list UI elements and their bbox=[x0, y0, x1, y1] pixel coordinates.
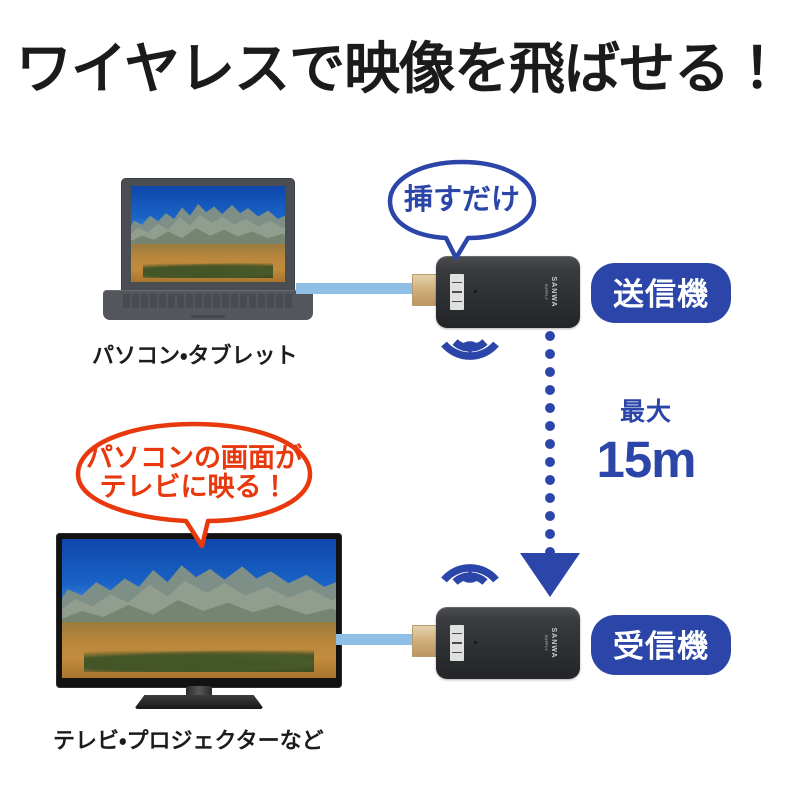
laptop-lid bbox=[121, 178, 295, 292]
wifi-transmit-icon bbox=[440, 338, 500, 386]
laptop-keyboard bbox=[123, 294, 293, 308]
photo-scrub bbox=[143, 263, 272, 278]
page-title: ワイヤレスで映像を飛ばせる！ bbox=[0, 24, 800, 105]
dongle-brand-text: SANWA SUPPLY bbox=[544, 276, 557, 307]
wifi-transmit-glyph bbox=[440, 338, 500, 386]
tv-stand-base bbox=[134, 695, 264, 709]
dongle-body: SANWA SUPPLY bbox=[436, 607, 580, 679]
laptop-base bbox=[103, 290, 313, 320]
television-illustration bbox=[56, 533, 342, 708]
mountain-landscape-photo bbox=[62, 539, 336, 678]
dongle-brand-name: SANWA bbox=[548, 627, 557, 658]
photo-mountain-ridge bbox=[131, 199, 285, 249]
source-device-caption: パソコン・タブレット bbox=[92, 338, 297, 370]
receiver-dongle: SANWA SUPPLY bbox=[412, 607, 580, 679]
status-badge-transmitter: 送信機 bbox=[591, 263, 731, 323]
display-device-caption: テレビ・プロジェクターなど bbox=[53, 723, 324, 755]
dongle-led-icon bbox=[474, 290, 477, 293]
callout-bubble-insert-only: 挿すだけ bbox=[382, 158, 542, 260]
dongle-led-icon bbox=[474, 641, 477, 644]
infographic-canvas: ワイヤレスで映像を飛ばせる！ パソコン・タブレット bbox=[0, 0, 800, 800]
arrowhead-glyph bbox=[519, 552, 581, 598]
mountain-landscape-photo bbox=[131, 186, 285, 282]
callout-bubble-text: パソコンの画面が テレビに映る！ bbox=[70, 420, 318, 548]
wifi-receive-icon bbox=[440, 538, 500, 586]
dongle-brand-name: SANWA bbox=[548, 276, 557, 307]
callout-bubble-screen-mirrors: パソコンの画面が テレビに映る！ bbox=[70, 420, 318, 548]
status-badge-receiver: 受信機 bbox=[591, 615, 731, 675]
transmitter-dongle: SANWA SUPPLY bbox=[412, 256, 580, 328]
hdmi-cable-transmitter bbox=[296, 283, 412, 294]
laptop-screen bbox=[131, 186, 285, 282]
wifi-receive-glyph bbox=[440, 538, 500, 586]
photo-mountain-ridge bbox=[62, 558, 336, 630]
laptop-illustration bbox=[103, 178, 313, 328]
photo-scrub bbox=[84, 650, 314, 672]
max-distance-label: 最大 15m bbox=[578, 392, 714, 489]
callout-line-2: テレビに映る！ bbox=[100, 473, 289, 502]
tv-bezel bbox=[56, 533, 342, 688]
max-distance-value: 15m bbox=[578, 430, 714, 489]
callout-line-1: 挿すだけ bbox=[404, 185, 520, 216]
callout-line-1: パソコンの画面が bbox=[86, 444, 302, 473]
hdmi-cable-receiver bbox=[336, 634, 414, 645]
tv-screen bbox=[62, 539, 336, 678]
dongle-sticker-label bbox=[450, 625, 464, 661]
dongle-brand-text: SANWA SUPPLY bbox=[544, 627, 557, 658]
max-distance-lead: 最大 bbox=[578, 392, 714, 428]
dongle-sticker-label bbox=[450, 274, 464, 310]
dotted-down-arrow-icon bbox=[544, 330, 556, 556]
arrowhead-down-icon bbox=[519, 552, 581, 598]
callout-bubble-text: 挿すだけ bbox=[382, 158, 542, 260]
dongle-body: SANWA SUPPLY bbox=[436, 256, 580, 328]
